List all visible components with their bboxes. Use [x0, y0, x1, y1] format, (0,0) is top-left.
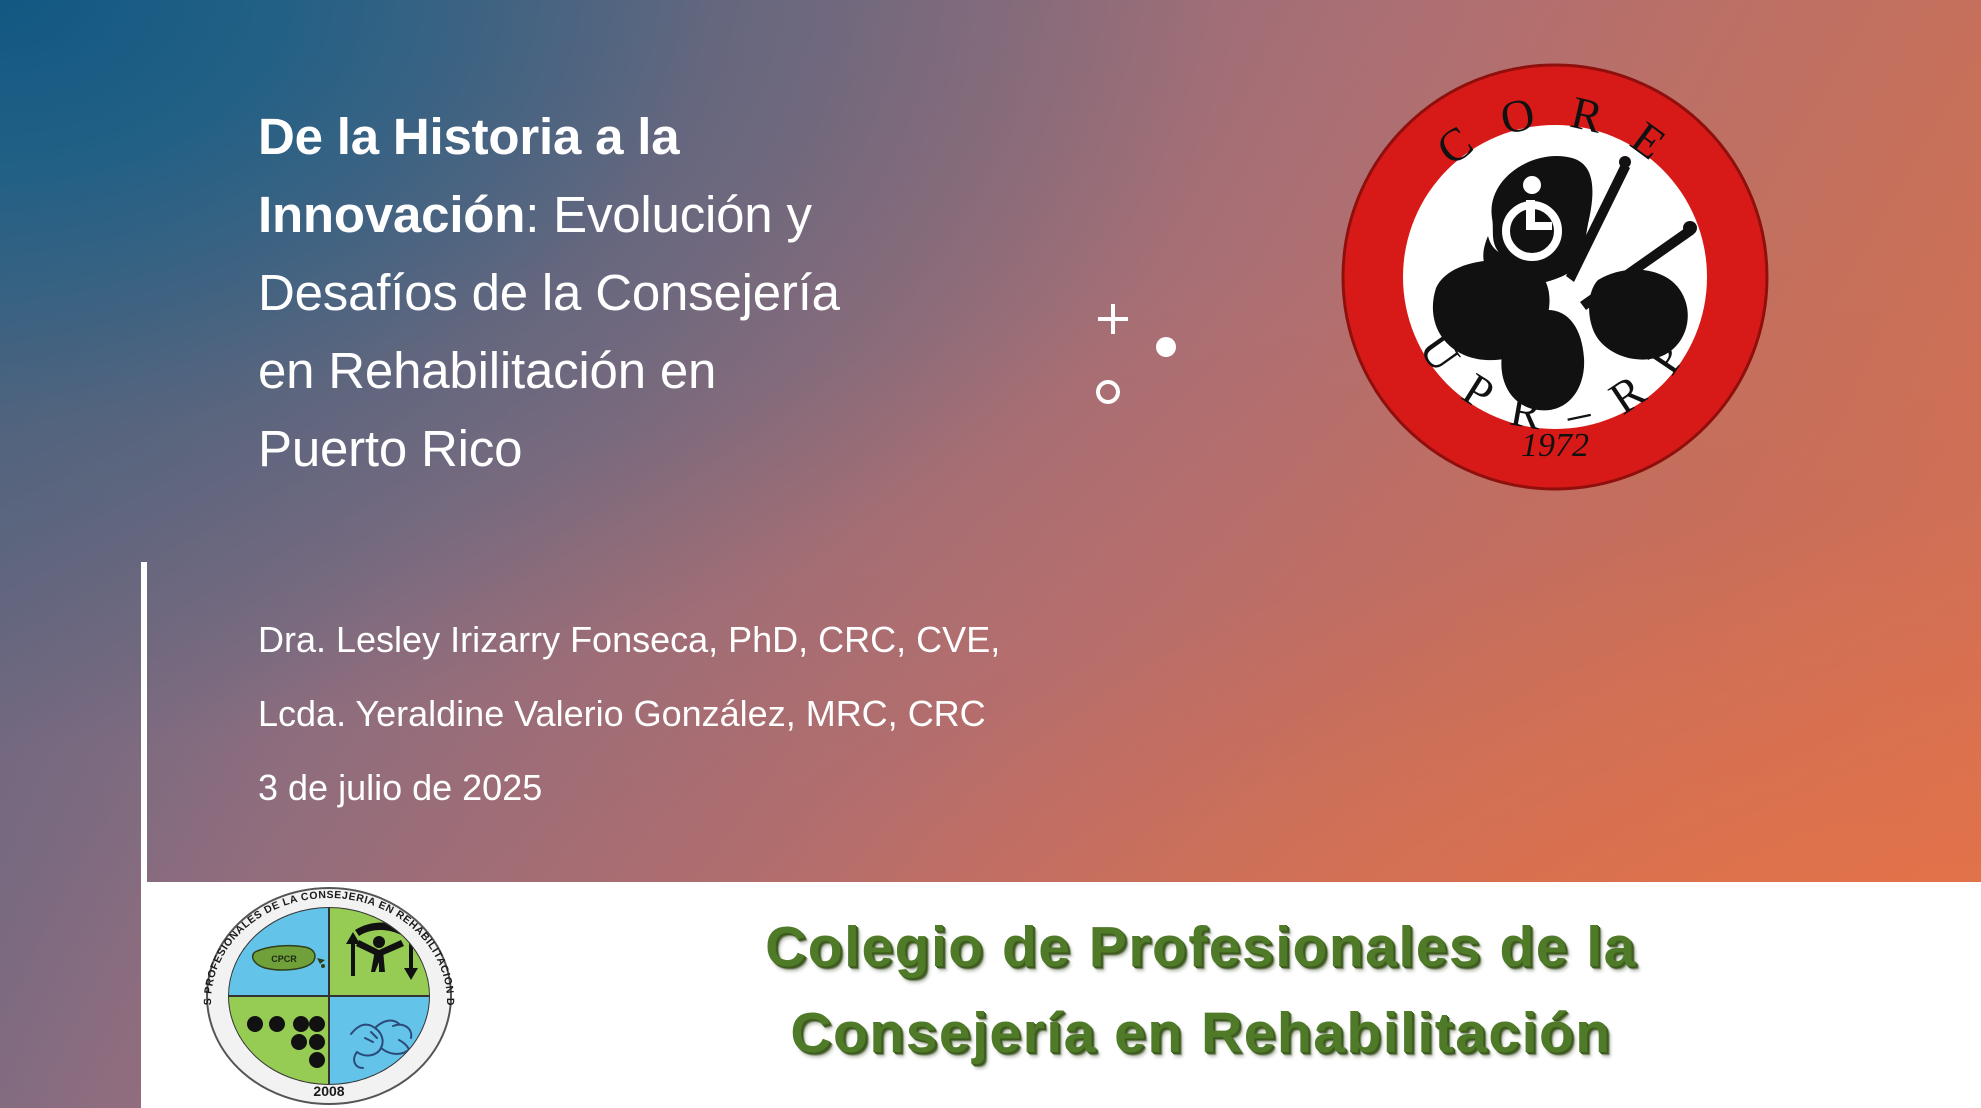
presentation-slide: De la Historia a la Innovación: Evolució…: [0, 0, 1981, 1108]
title-line-2: Innovación: Evolución y: [258, 176, 1048, 254]
cpcr-year-text: 2008: [313, 1083, 344, 1099]
plus-mark-icon: [1098, 304, 1128, 334]
author-line-1: Dra. Lesley Irizarry Fonseca, PhD, CRC, …: [258, 603, 1258, 677]
core-upr-rp-logo: C O R E U P R – R P: [1336, 58, 1774, 496]
bottom-banner: CPCR: [141, 882, 1981, 1108]
banner-line-2: Consejería en Rehabilitación: [491, 990, 1911, 1076]
title-line-5-normal: Puerto Rico: [258, 420, 522, 477]
open-circle-mark-icon: [1096, 380, 1120, 404]
title-line-3: Desafíos de la Consejería: [258, 254, 1048, 332]
title-line-2-normal: : Evolución y: [525, 186, 812, 243]
title-line-1: De la Historia a la: [258, 98, 1048, 176]
title-line-5: Puerto Rico: [258, 410, 1048, 488]
cpcr-seal-logo: CPCR: [189, 884, 469, 1108]
filled-dot-mark-icon: [1156, 337, 1176, 357]
presentation-date: 3 de julio de 2025: [258, 751, 1258, 825]
slide-title: De la Historia a la Innovación: Evolució…: [258, 98, 1048, 488]
title-line-3-normal: Desafíos de la Consejería: [258, 264, 840, 321]
banner-text-block: Colegio de Profesionales de la Consejerí…: [491, 904, 1911, 1076]
title-line-2-strong: Innovación: [258, 186, 525, 243]
author-line-2: Lcda. Yeraldine Valerio González, MRC, C…: [258, 677, 1258, 751]
cpcr-island-label: CPCR: [271, 954, 297, 964]
core-year-text: 1972: [1521, 427, 1589, 464]
accent-rule: [141, 562, 147, 882]
banner-line-1: Colegio de Profesionales de la: [491, 904, 1911, 990]
title-line-4: en Rehabilitación en: [258, 332, 1048, 410]
author-block: Dra. Lesley Irizarry Fonseca, PhD, CRC, …: [258, 603, 1258, 825]
title-line-1-strong: De la Historia a la: [258, 108, 679, 165]
title-line-4-normal: en Rehabilitación en: [258, 342, 716, 399]
